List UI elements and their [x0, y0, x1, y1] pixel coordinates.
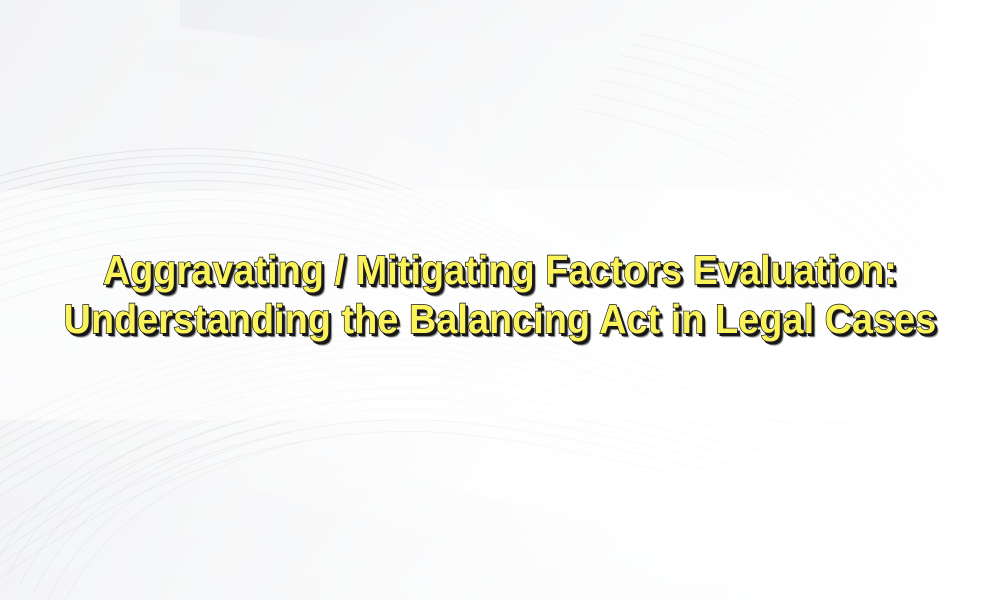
- page-title: Aggravating / Mitigating Factors Evaluat…: [0, 246, 1000, 344]
- title-line-1: Aggravating / Mitigating Factors Evaluat…: [40, 246, 960, 295]
- title-banner: Aggravating / Mitigating Factors Evaluat…: [0, 0, 1000, 600]
- title-line-2: Understanding the Balancing Act in Legal…: [40, 295, 960, 344]
